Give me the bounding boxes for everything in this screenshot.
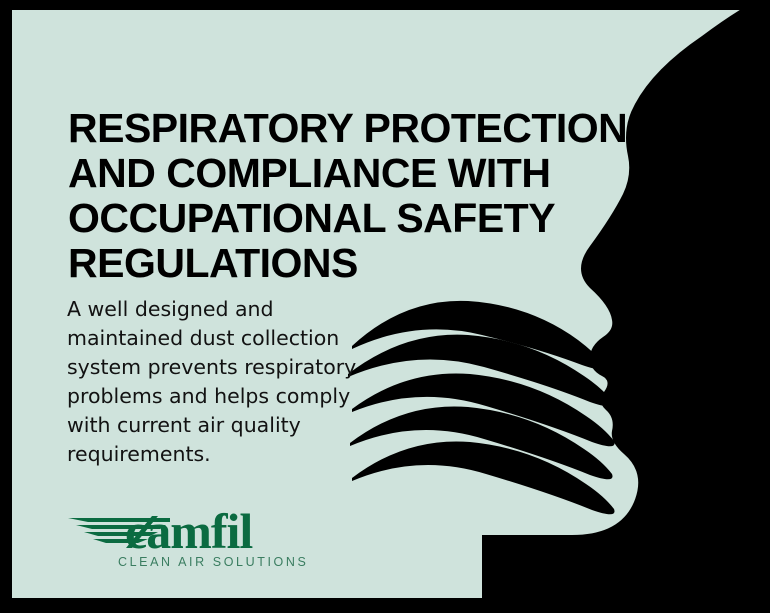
body-paragraph: A well designed and maintained dust coll… <box>67 295 347 469</box>
body-line-2: maintained dust collection <box>67 324 347 353</box>
body-line-6: requirements. <box>67 440 347 469</box>
body-line-3: system prevents respiratory <box>67 353 347 382</box>
body-line-4: problems and helps comply <box>67 382 347 411</box>
headline-line-4: REGULATIONS <box>68 241 668 286</box>
headline-line-3: OCCUPATIONAL SAFETY <box>68 196 668 241</box>
camfil-logo: camfil CLEAN AIR SOLUTIONS <box>66 504 326 580</box>
camfil-tagline: CLEAN AIR SOLUTIONS <box>118 555 308 569</box>
body-line-5: with current air quality <box>67 411 347 440</box>
poster-card: RESPIRATORY PROTECTION AND COMPLIANCE WI… <box>12 10 748 598</box>
body-line-1: A well designed and <box>67 295 347 324</box>
headline-line-1: RESPIRATORY PROTECTION <box>68 106 668 151</box>
page-title: RESPIRATORY PROTECTION AND COMPLIANCE WI… <box>68 106 668 286</box>
headline-line-2: AND COMPLIANCE WITH <box>68 151 668 196</box>
poster-canvas: RESPIRATORY PROTECTION AND COMPLIANCE WI… <box>0 0 770 613</box>
camfil-wordmark: camfil <box>125 502 252 560</box>
